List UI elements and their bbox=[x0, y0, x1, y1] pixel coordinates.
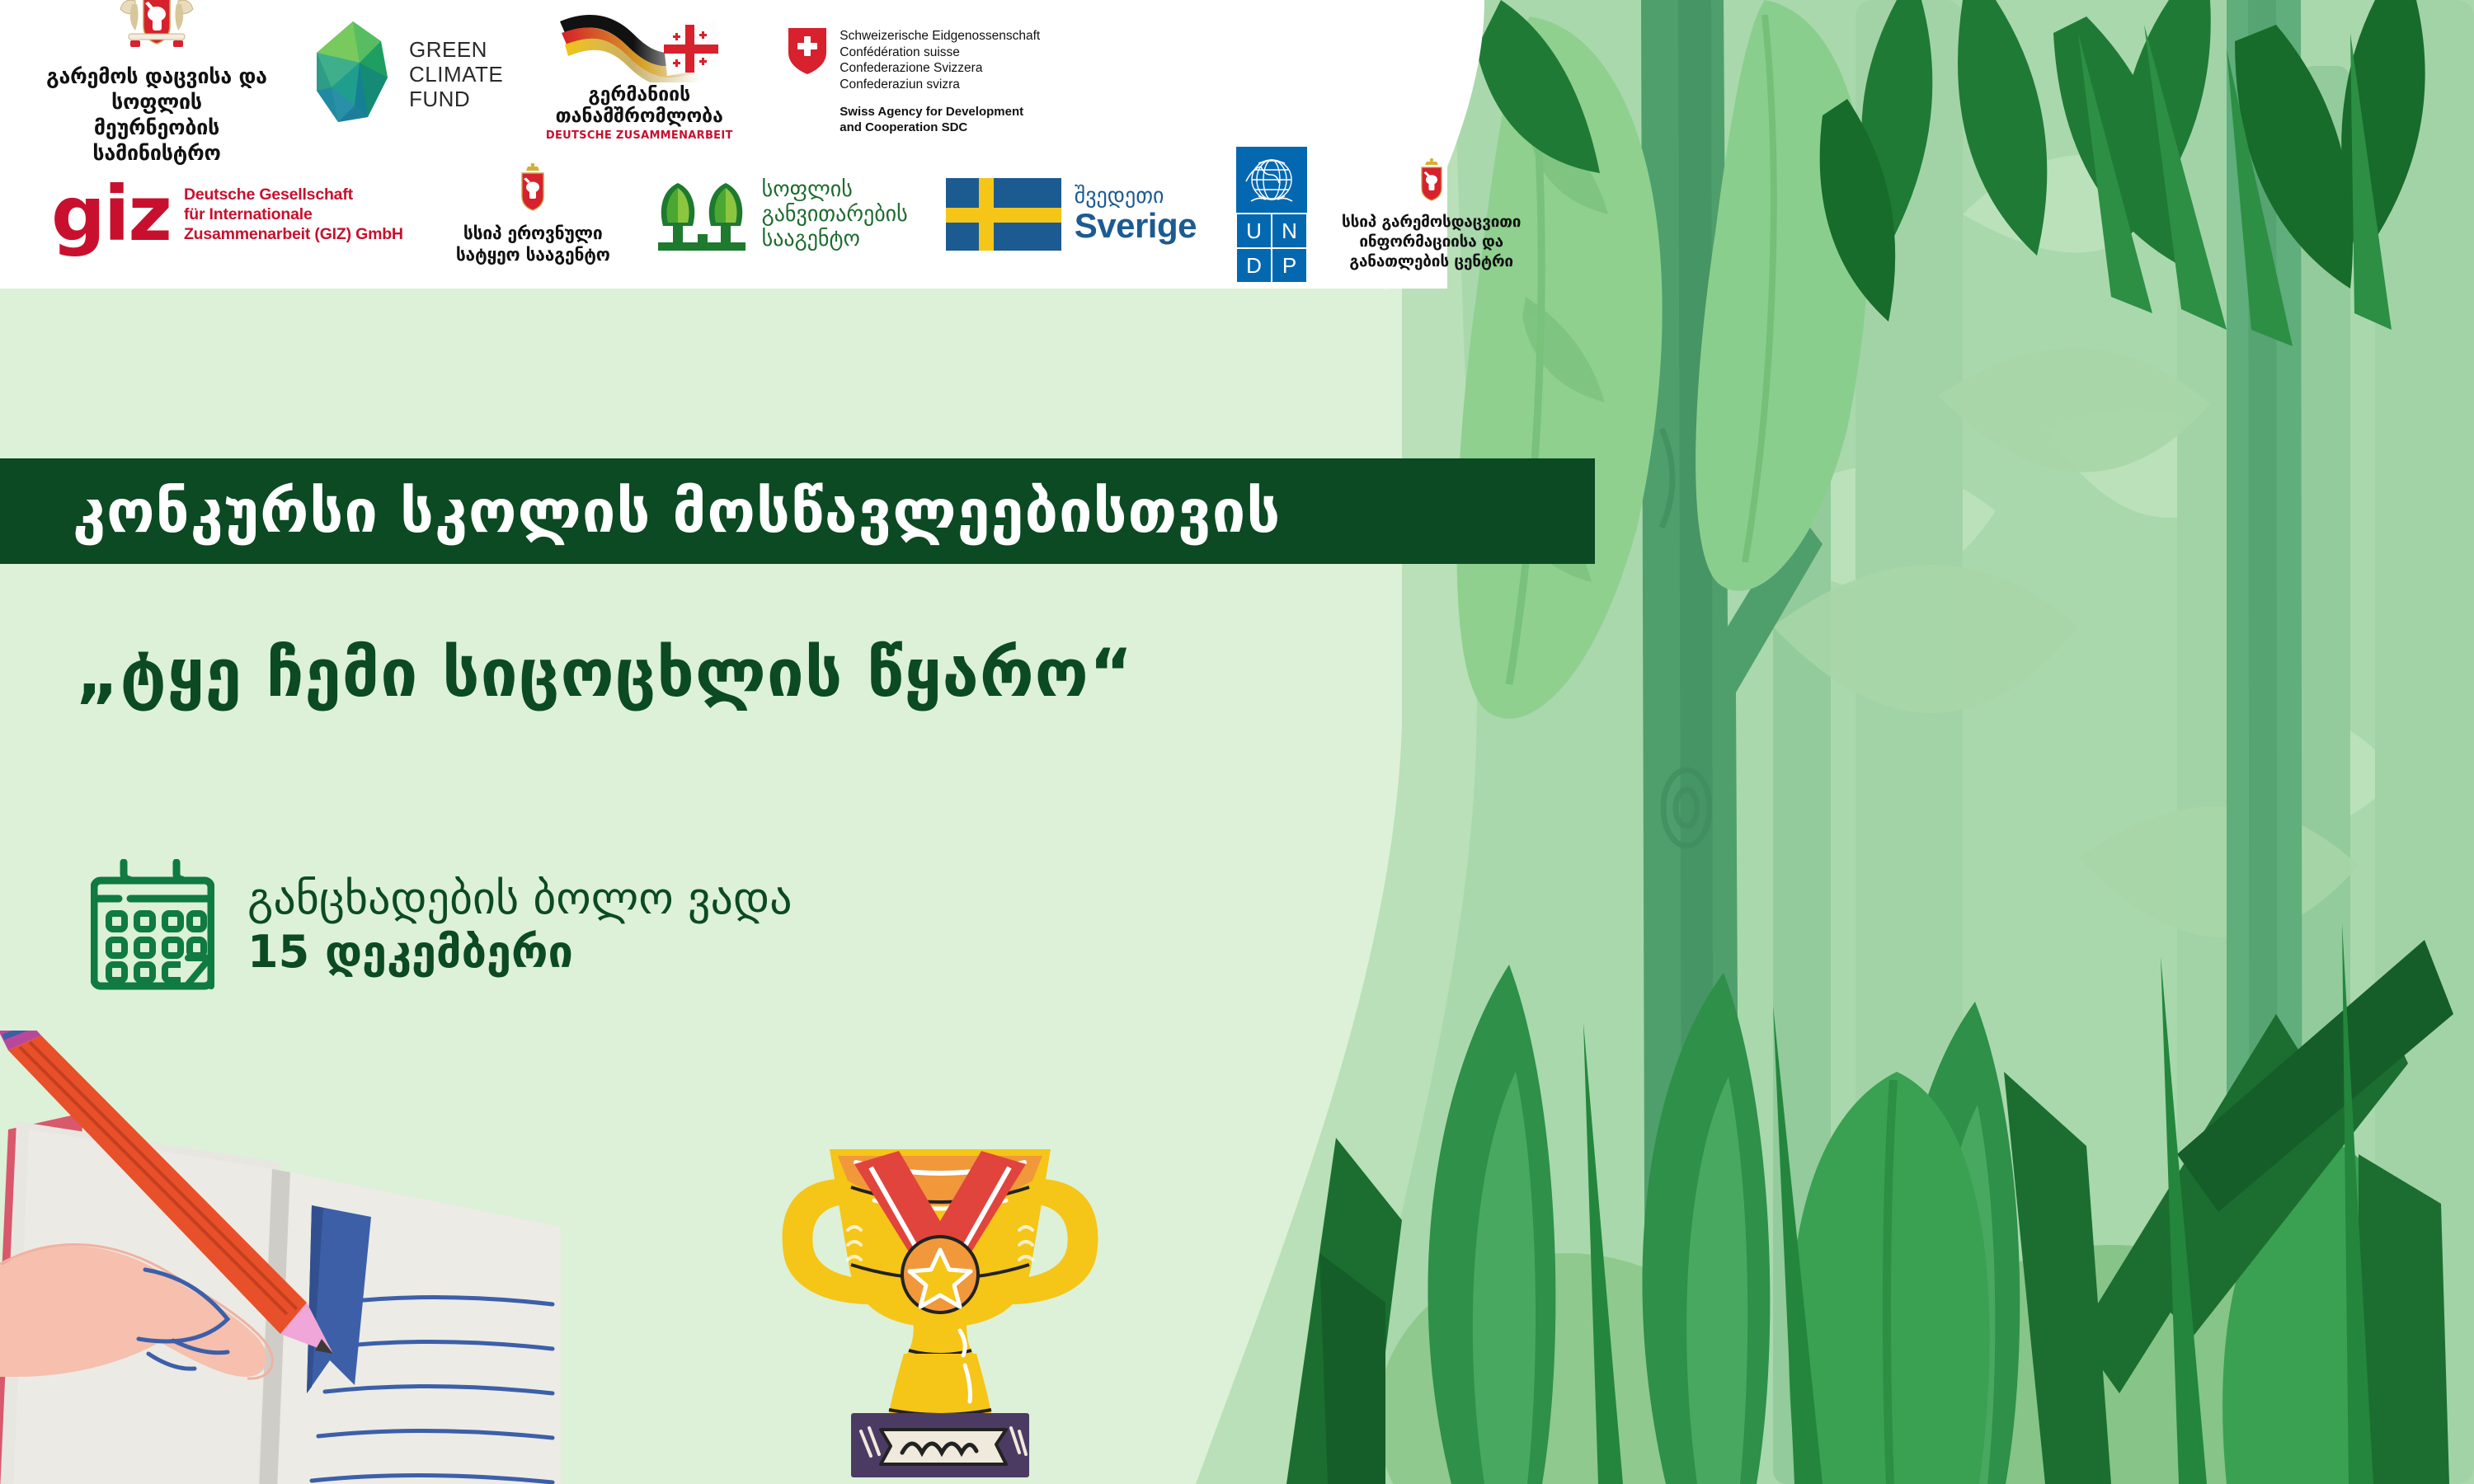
hand-writing-notebook-illustration bbox=[0, 1031, 561, 1484]
eiec-line3: განათლების ცენტრი bbox=[1342, 251, 1521, 271]
undp-letter-u: U bbox=[1237, 214, 1271, 247]
german-coop-line1: გერმანიის bbox=[546, 84, 733, 106]
undp-letter-d: D bbox=[1237, 249, 1271, 282]
logo-sweden: შვედეთი Sverige bbox=[946, 178, 1197, 251]
logo-row-bottom: giz Deutsche Gesellschaft für Internatio… bbox=[25, 153, 1521, 276]
swiss-line2: Confédération suisse bbox=[840, 45, 1040, 61]
undp-letter-p: P bbox=[1272, 249, 1306, 282]
logo-row-top: გარემოს დაცვისა და სოფლის მეურნეობის სამ… bbox=[33, 8, 1040, 140]
undp-letter-n: N bbox=[1272, 214, 1306, 247]
swiss-line3: Confederazione Svizzera bbox=[840, 60, 1040, 77]
giz-line2: für Internationale bbox=[184, 204, 403, 224]
trophy-illustration bbox=[759, 1129, 1122, 1484]
sweden-line2: Sverige bbox=[1075, 208, 1197, 244]
sweden-line1: შვედეთი bbox=[1075, 185, 1197, 208]
giz-line3: Zusammenarbeit (GIZ) GmbH bbox=[184, 224, 403, 244]
logo-environmental-info-centre: სსიპ გარემოსდაცვითი ინფორმაციისა და განა… bbox=[1342, 158, 1521, 271]
deadline-text: განცხადების ბოლო ვადა 15 დეკემბერი bbox=[247, 871, 793, 979]
sweden-flag-icon bbox=[946, 178, 1061, 251]
gcf-line2: CLIMATE bbox=[409, 62, 503, 87]
gcf-line1: GREEN bbox=[409, 37, 503, 62]
rda-caption: სოფლის განვითარების სააგენტო bbox=[762, 177, 908, 251]
rda-line1: სოფლის bbox=[762, 177, 908, 202]
poster-canvas: გარემოს დაცვისა და სოფლის მეურნეობის სამ… bbox=[0, 0, 2474, 1484]
eiec-line2: ინფორმაციისა და bbox=[1342, 232, 1521, 251]
gcf-line3: FUND bbox=[409, 87, 503, 111]
swiss-line4: Confederaziun svizra bbox=[840, 77, 1040, 93]
giz-line1: Deutsche Gesellschaft bbox=[184, 185, 403, 204]
german-coop-line3: DEUTSCHE ZUSAMMENARBEIT bbox=[546, 129, 733, 142]
ministry-label-line1: გარემოს დაცვისა და სოფლის bbox=[33, 63, 280, 115]
swiss-line5: Swiss Agency for Development bbox=[840, 104, 1040, 120]
rda-line3: სააგენტო bbox=[762, 227, 908, 251]
georgia-coat-of-arms bbox=[1413, 158, 1451, 204]
logo-rural-development-agency: სოფლის განვითარების სააგენტო bbox=[653, 177, 908, 251]
logo-undp: U D N P bbox=[1236, 147, 1307, 282]
logo-swiss-sdc: Schweizerische Eidgenossenschaft Confédé… bbox=[788, 13, 1040, 135]
giz-wordmark-text: giz bbox=[51, 184, 171, 245]
contest-theme-subtitle: „ტყე ჩემი სიცოცხლის წყარო“ bbox=[76, 635, 1133, 711]
logo-national-forestry-agency: სსიპ ეროვნული სატყეო სააგენტო bbox=[456, 163, 610, 265]
swiss-line1: Schweizerische Eidgenossenschaft bbox=[840, 28, 1040, 45]
green-gem-icon bbox=[308, 20, 397, 129]
forestry-line2: სატყეო სააგენტო bbox=[456, 244, 610, 265]
un-globe-icon bbox=[1236, 147, 1307, 213]
german-coop-line2: თანამშრომლობა bbox=[546, 106, 733, 127]
eiec-line1: სსიპ გარემოსდაცვითი bbox=[1342, 212, 1521, 232]
two-trees-house-icon bbox=[653, 178, 750, 251]
logo-german-cooperation: გერმანიის თანამშრომლობა DEUTSCHE ZUSAMME… bbox=[536, 7, 742, 142]
giz-caption: Deutsche Gesellschaft für Internationale… bbox=[184, 185, 403, 244]
georgia-coat-of-arms bbox=[115, 0, 198, 54]
deadline-block: განცხადების ბოლო ვადა 15 დეკემბერი bbox=[91, 859, 793, 991]
headline-band: კონკურსი სკოლის მოსწავლეებისთვის bbox=[0, 458, 1595, 564]
gcf-wordmark: GREEN CLIMATE FUND bbox=[409, 37, 503, 111]
deadline-date: 15 დეკემბერი bbox=[247, 926, 793, 979]
rda-line2: განვითარების bbox=[762, 202, 908, 227]
german-georgian-flag-ribbon bbox=[555, 7, 724, 82]
georgia-coat-of-arms bbox=[511, 163, 554, 214]
undp-letters: U D N P bbox=[1237, 214, 1306, 282]
logo-giz: giz Deutsche Gesellschaft für Internatio… bbox=[51, 184, 403, 245]
swiss-line6: and Cooperation SDC bbox=[840, 120, 1040, 135]
page-title: კონკურსი სკოლის მოსწავლეებისთვის bbox=[73, 477, 1281, 546]
calendar-icon bbox=[91, 859, 214, 991]
swiss-shield-icon bbox=[788, 28, 826, 74]
forestry-line1: სსიპ ეროვნული bbox=[456, 223, 610, 244]
deadline-label: განცხადების ბოლო ვადა bbox=[247, 871, 793, 926]
logo-ministry-of-environment: გარემოს დაცვისა და სოფლის მეურნეობის სამ… bbox=[33, 0, 280, 166]
logo-green-climate-fund: GREEN CLIMATE FUND bbox=[308, 20, 503, 129]
